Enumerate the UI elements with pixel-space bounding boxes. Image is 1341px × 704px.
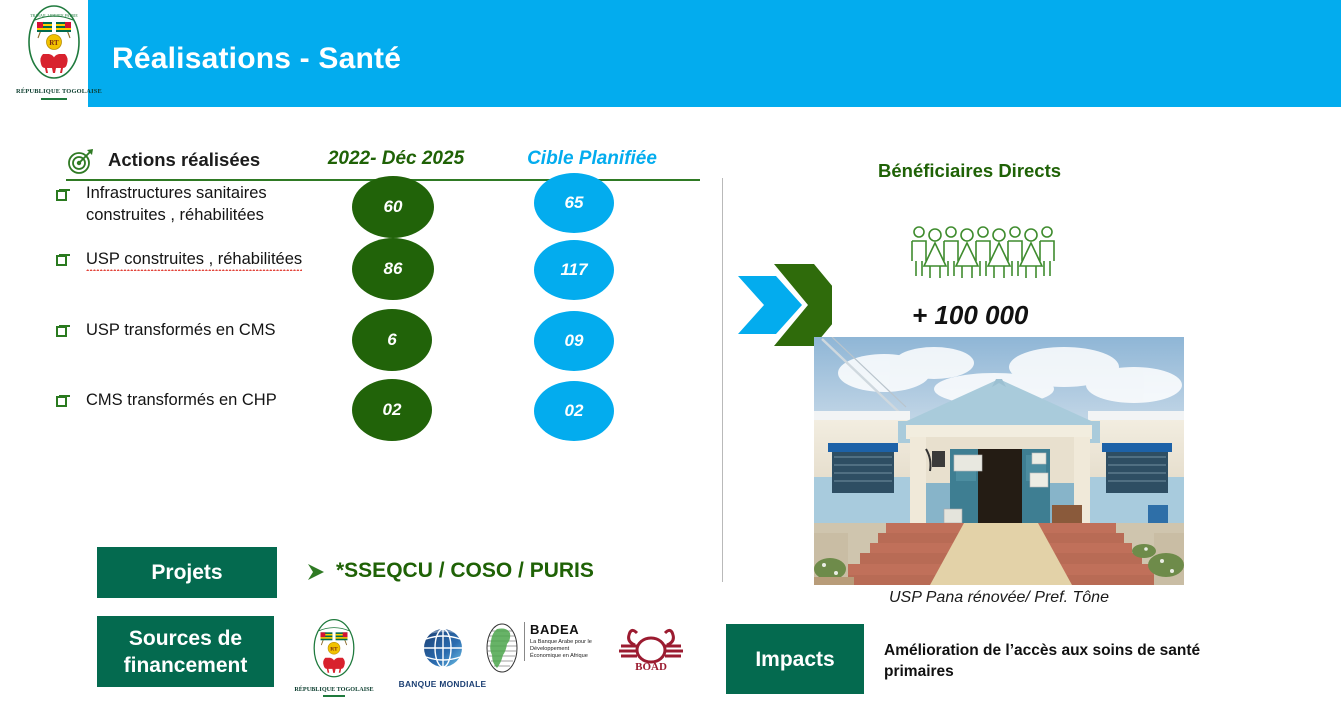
logo-caption: BANQUE MONDIALE [385, 679, 500, 689]
crest-caption: RÉPUBLIQUE TOGOLAISE [16, 88, 92, 95]
table-row: CMS transformés en CHP 02 02 [48, 394, 700, 464]
crest-monogram: RT [49, 39, 59, 47]
checkbox-bullet-icon [56, 326, 67, 337]
arrow-head-icon [306, 562, 328, 587]
row-label: CMS transformés en CHP [86, 389, 386, 411]
checkbox-bullet-icon [56, 190, 67, 201]
crest-rule [41, 98, 67, 100]
slide-root: TRAVAIL LIBERTE PATRIE RT [0, 0, 1341, 704]
coat-of-arms-icon: RT [311, 618, 357, 680]
boad-emblem-icon: BOAD [615, 626, 687, 672]
table-header-row: Actions réalisées 2022- Déc 2025 Cible P… [48, 146, 700, 182]
realise-value-bubble: 60 [352, 176, 434, 238]
banque-mondiale-logo: BANQUE MONDIALE [385, 624, 500, 689]
cible-value-bubble: 02 [534, 381, 614, 441]
logo-rule [323, 695, 345, 697]
globe-icon [415, 624, 471, 672]
photo-caption: USP Pana rénovée/ Pref. Tône [814, 589, 1184, 607]
badea-wordmark: BADEA [530, 622, 596, 637]
row-label: USP construites , réhabilitées [86, 248, 386, 270]
badea-logo: BADEA La Banque Arabe pour le Développem… [485, 622, 605, 674]
boad-wordmark: BOAD [635, 661, 667, 672]
projets-box[interactable]: Projets [97, 547, 277, 598]
republique-togolaise-crest: TRAVAIL LIBERTE PATRIE RT [16, 4, 92, 102]
cible-value-bubble: 09 [534, 311, 614, 371]
target-dart-icon [66, 146, 96, 181]
svg-text:TRAVAIL LIBERTE PATRIE: TRAVAIL LIBERTE PATRIE [30, 13, 78, 18]
beneficiaires-count: + 100 000 [912, 300, 1028, 331]
realise-value-bubble: 86 [352, 238, 434, 300]
checkbox-bullet-icon [56, 396, 67, 407]
cible-value-bubble: 65 [534, 173, 614, 233]
financing-logos: RT RÉPUBLIQUE TOGOLAISE [285, 616, 705, 696]
cible-value-bubble: 117 [534, 240, 614, 300]
boad-logo: BOAD [605, 626, 697, 677]
row-label: Infrastructures sanitaires construites ,… [86, 182, 316, 226]
actions-table: Actions réalisées 2022- Déc 2025 Cible P… [48, 146, 700, 464]
coat-of-arms-icon: TRAVAIL LIBERTE PATRIE RT [25, 4, 83, 82]
vertical-divider [722, 178, 723, 582]
page-title: Réalisations - Santé [112, 42, 401, 76]
row-label: USP transformés en CMS [86, 319, 386, 341]
svg-text:RT: RT [330, 647, 338, 653]
impacts-box[interactable]: Impacts [726, 624, 864, 694]
column-header-realise: 2022- Déc 2025 [306, 148, 486, 170]
checkbox-bullet-icon [56, 255, 67, 266]
row-label-text: USP construites , réhabilitées [86, 250, 302, 268]
impacts-text: Amélioration de l’accès aux soins de san… [884, 640, 1264, 682]
africa-map-icon [485, 622, 519, 674]
column-header-cible: Cible Planifiée [492, 148, 692, 170]
logo-caption: RÉPUBLIQUE TOGOLAISE [293, 686, 375, 693]
column-header-actions: Actions réalisées [108, 149, 260, 171]
sources-de-financement-box[interactable]: Sources de financement [97, 616, 274, 687]
group-of-people-icon [908, 222, 1074, 285]
photo-caption-text: USP Pana rénovée/ Pref. Tône [889, 589, 1109, 606]
beneficiaires-title: Bénéficiaires Directs [878, 160, 1061, 182]
badea-subtitle: La Banque Arabe pour le Développement Éc… [530, 639, 596, 661]
usp-pana-photo [814, 337, 1184, 585]
realise-value-bubble: 6 [352, 309, 432, 371]
realise-value-bubble: 02 [352, 379, 432, 441]
projets-list: *SSEQCU / COSO / PURIS [336, 559, 594, 583]
republique-togolaise-logo: RT RÉPUBLIQUE TOGOLAISE [293, 618, 375, 697]
